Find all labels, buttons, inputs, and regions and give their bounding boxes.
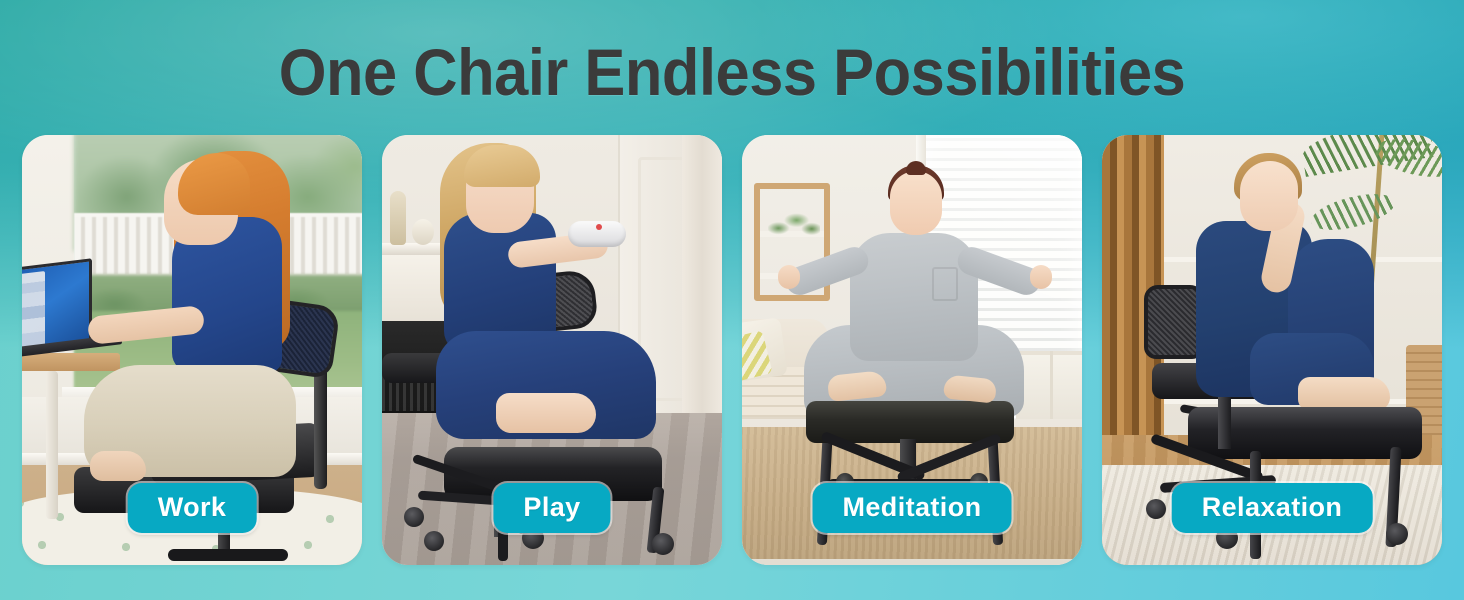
low-cabinet [1016,351,1082,423]
desk-top [22,353,120,371]
woman-hair-bun [906,161,926,175]
page-title: One Chair Endless Possibilities [51,36,1413,108]
chair-caster [424,531,444,551]
chair-base [168,549,288,561]
decor-bowl [412,219,434,245]
card-badge-work[interactable]: Work [128,483,257,533]
chair-caster [404,507,424,527]
feature-card-relaxation[interactable]: Relaxation [1102,135,1442,565]
card-badge-play[interactable]: Play [493,483,610,533]
cabinet-divider [1050,351,1053,423]
feature-card-row: Work [22,135,1442,565]
woman-torso [850,233,978,361]
decor-vase [390,191,406,245]
woman-hair-top [464,145,540,187]
chair-caster [1146,499,1166,519]
chair-caster [652,533,674,555]
chair-mesh-backrest [1144,285,1204,359]
card-badge-relaxation[interactable]: Relaxation [1172,483,1373,533]
card-badge-meditation[interactable]: Meditation [813,483,1012,533]
desk-leg [46,371,58,519]
feature-card-meditation[interactable]: Meditation [742,135,1082,565]
laptop-screen-ui [22,271,45,348]
woman-head [1240,161,1298,231]
woman-feet [496,393,596,433]
feature-card-play[interactable]: Play [382,135,722,565]
chair-caster [1386,523,1408,545]
woman-hand-right [1030,265,1052,289]
feature-card-work[interactable]: Work [22,135,362,565]
woman-head [890,171,942,235]
woman-feet [1298,377,1390,411]
woman-foot [90,451,146,481]
chair-gas-cylinder [1218,397,1231,449]
product-feature-banner: One Chair Endless Possibilities [0,0,1464,600]
controller-button [596,224,602,230]
potted-plant [768,209,820,241]
shirt-pocket [932,267,958,301]
woman-hand-left [778,265,800,289]
